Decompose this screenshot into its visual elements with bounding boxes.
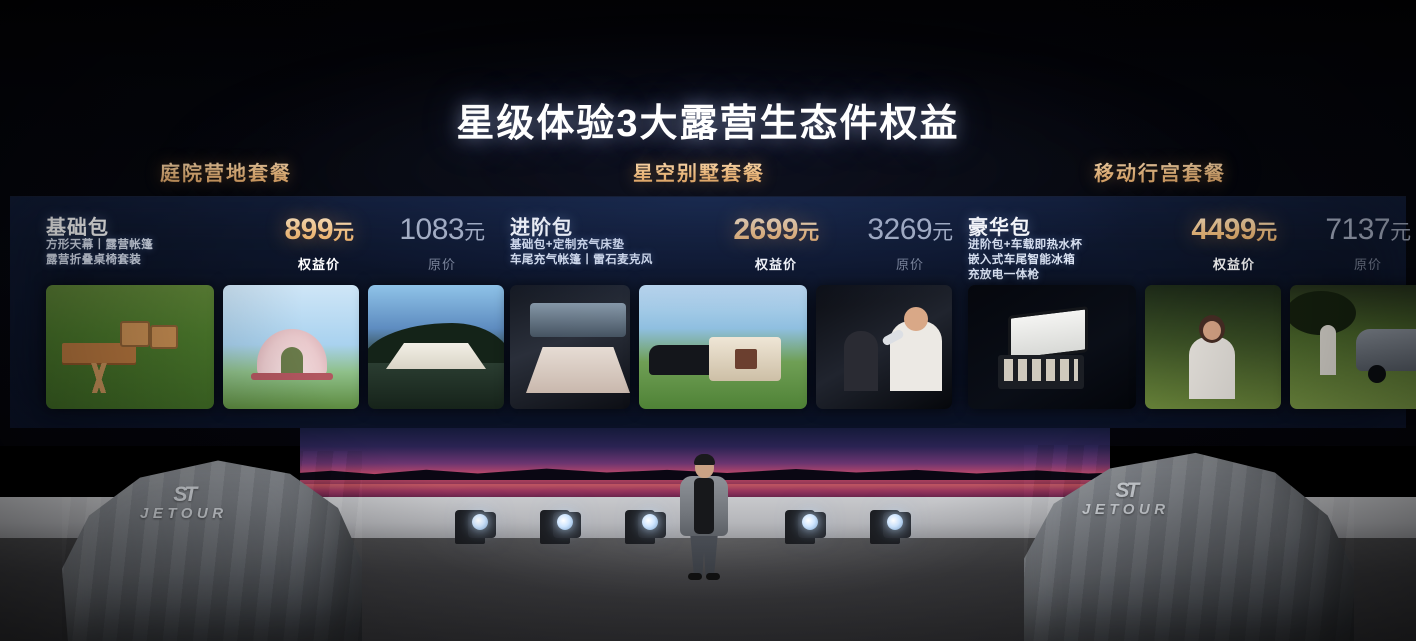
package-name: 豪华包 — [968, 211, 1031, 240]
benefit-price-value: 4499元 — [1166, 213, 1302, 250]
benefit-price-number: 4499 — [1191, 213, 1256, 246]
jetour-logo: ST JETOUR — [1082, 481, 1170, 519]
original-price-label: 原价 — [1306, 254, 1416, 273]
package-description: 进阶包+车载即热水杯 嵌入式车尾智能冰箱 充放电一体枪 — [968, 238, 1082, 283]
jetour-logo-mark: ST — [1082, 481, 1170, 501]
original-price-label: 原价 — [382, 254, 502, 273]
original-price-value: 7137元 — [1306, 213, 1416, 250]
package-desc-line: 露营折叠桌椅套装 — [46, 253, 153, 268]
stage-light — [455, 500, 497, 544]
package-thumbnails — [968, 285, 1416, 409]
original-price-value: 1083元 — [382, 213, 502, 250]
package-header-2: 星空别墅套餐 — [633, 157, 765, 186]
packages-panel: 基础包 方形天幕丨露营帐篷 露营折叠桌椅套装 899元 权益价 1083元 原价 — [10, 196, 1406, 428]
camping-table-chairs-photo — [46, 285, 214, 409]
package-card: 进阶包 基础包+定制充气床垫 车尾充气帐篷丨雷石麦克风 2699元 权益价 32… — [496, 197, 948, 429]
woman-outdoors-photo — [1145, 285, 1281, 409]
stage-light — [785, 500, 827, 544]
package-desc-line: 基础包+定制充气床垫 — [510, 238, 653, 253]
stage-scene: 星级体验3大露营生态件权益 庭院营地套餐 星空别墅套餐 移动行宫套餐 基础包 方… — [0, 0, 1416, 641]
portable-fridge-case-photo — [968, 285, 1136, 409]
benefit-price-value: 899元 — [260, 213, 378, 250]
package-header-1: 庭院营地套餐 — [160, 157, 292, 186]
package-description: 基础包+定制充气床垫 车尾充气帐篷丨雷石麦克风 — [510, 238, 653, 268]
original-price-block: 1083元 原价 — [382, 213, 502, 273]
package-desc-line: 充放电一体枪 — [968, 268, 1082, 283]
benefit-price-block: 899元 权益价 — [260, 213, 378, 273]
benefit-price-number: 2699 — [733, 213, 798, 246]
benefit-price-label: 权益价 — [260, 254, 378, 273]
benefit-price-block: 2699元 权益价 — [708, 213, 844, 273]
canopy-awning-dusk-photo — [368, 285, 504, 409]
package-desc-line: 进阶包+车载即热水杯 — [968, 238, 1082, 253]
package-thumbnails — [510, 285, 952, 409]
package-description: 方形天幕丨露营帐篷 露营折叠桌椅套装 — [46, 238, 153, 268]
suv-outdoor-photo — [1290, 285, 1416, 409]
package-desc-line: 方形天幕丨露营帐篷 — [46, 238, 153, 253]
package-header-3: 移动行宫套餐 — [1094, 157, 1226, 186]
package-card: 豪华包 进阶包+车载即热水杯 嵌入式车尾智能冰箱 充放电一体枪 4499元 权益… — [954, 197, 1406, 429]
stage-light — [625, 500, 667, 544]
original-price-unit: 元 — [932, 221, 953, 244]
original-price-number: 3269 — [867, 213, 932, 246]
original-price-block: 7137元 原价 — [1306, 213, 1416, 273]
jetour-logo-word: JETOUR — [1082, 501, 1170, 519]
jetour-logo-word: JETOUR — [140, 505, 228, 523]
package-name: 基础包 — [46, 211, 109, 240]
jetour-logo: ST JETOUR — [140, 485, 228, 523]
covered-vehicle-left: ST JETOUR — [62, 451, 362, 641]
benefit-price-label: 权益价 — [708, 254, 844, 273]
presenter-on-stage — [676, 456, 732, 581]
car-inflatable-mattress-photo — [510, 285, 630, 409]
package-card: 基础包 方形天幕丨露营帐篷 露营折叠桌椅套装 899元 权益价 1083元 原价 — [32, 197, 484, 429]
package-thumbnails — [46, 285, 504, 409]
in-car-karaoke-photo — [816, 285, 952, 409]
jetour-logo-mark: ST — [140, 485, 228, 505]
stage-light — [540, 500, 582, 544]
benefit-price-unit: 元 — [333, 221, 354, 244]
tailgate-tent-car-photo — [639, 285, 807, 409]
covered-vehicle-right: ST JETOUR — [1024, 445, 1354, 641]
package-name: 进阶包 — [510, 211, 573, 240]
original-price-number: 1083 — [399, 213, 464, 246]
original-price-unit: 元 — [1390, 221, 1411, 244]
package-desc-line: 嵌入式车尾智能冰箱 — [968, 253, 1082, 268]
benefit-price-number: 899 — [284, 213, 333, 246]
package-header-row: 庭院营地套餐 星空别墅套餐 移动行宫套餐 — [0, 157, 1416, 187]
original-price-unit: 元 — [464, 221, 485, 244]
original-price-number: 7137 — [1325, 213, 1390, 246]
benefit-price-value: 2699元 — [708, 213, 844, 250]
benefit-price-label: 权益价 — [1166, 254, 1302, 273]
dome-tent-photo — [223, 285, 359, 409]
benefit-price-unit: 元 — [798, 221, 819, 244]
page-title: 星级体验3大露营生态件权益 — [0, 92, 1416, 147]
benefit-price-block: 4499元 权益价 — [1166, 213, 1302, 273]
package-desc-line: 车尾充气帐篷丨雷石麦克风 — [510, 253, 653, 268]
stage-light — [870, 500, 912, 544]
benefit-price-unit: 元 — [1256, 221, 1277, 244]
